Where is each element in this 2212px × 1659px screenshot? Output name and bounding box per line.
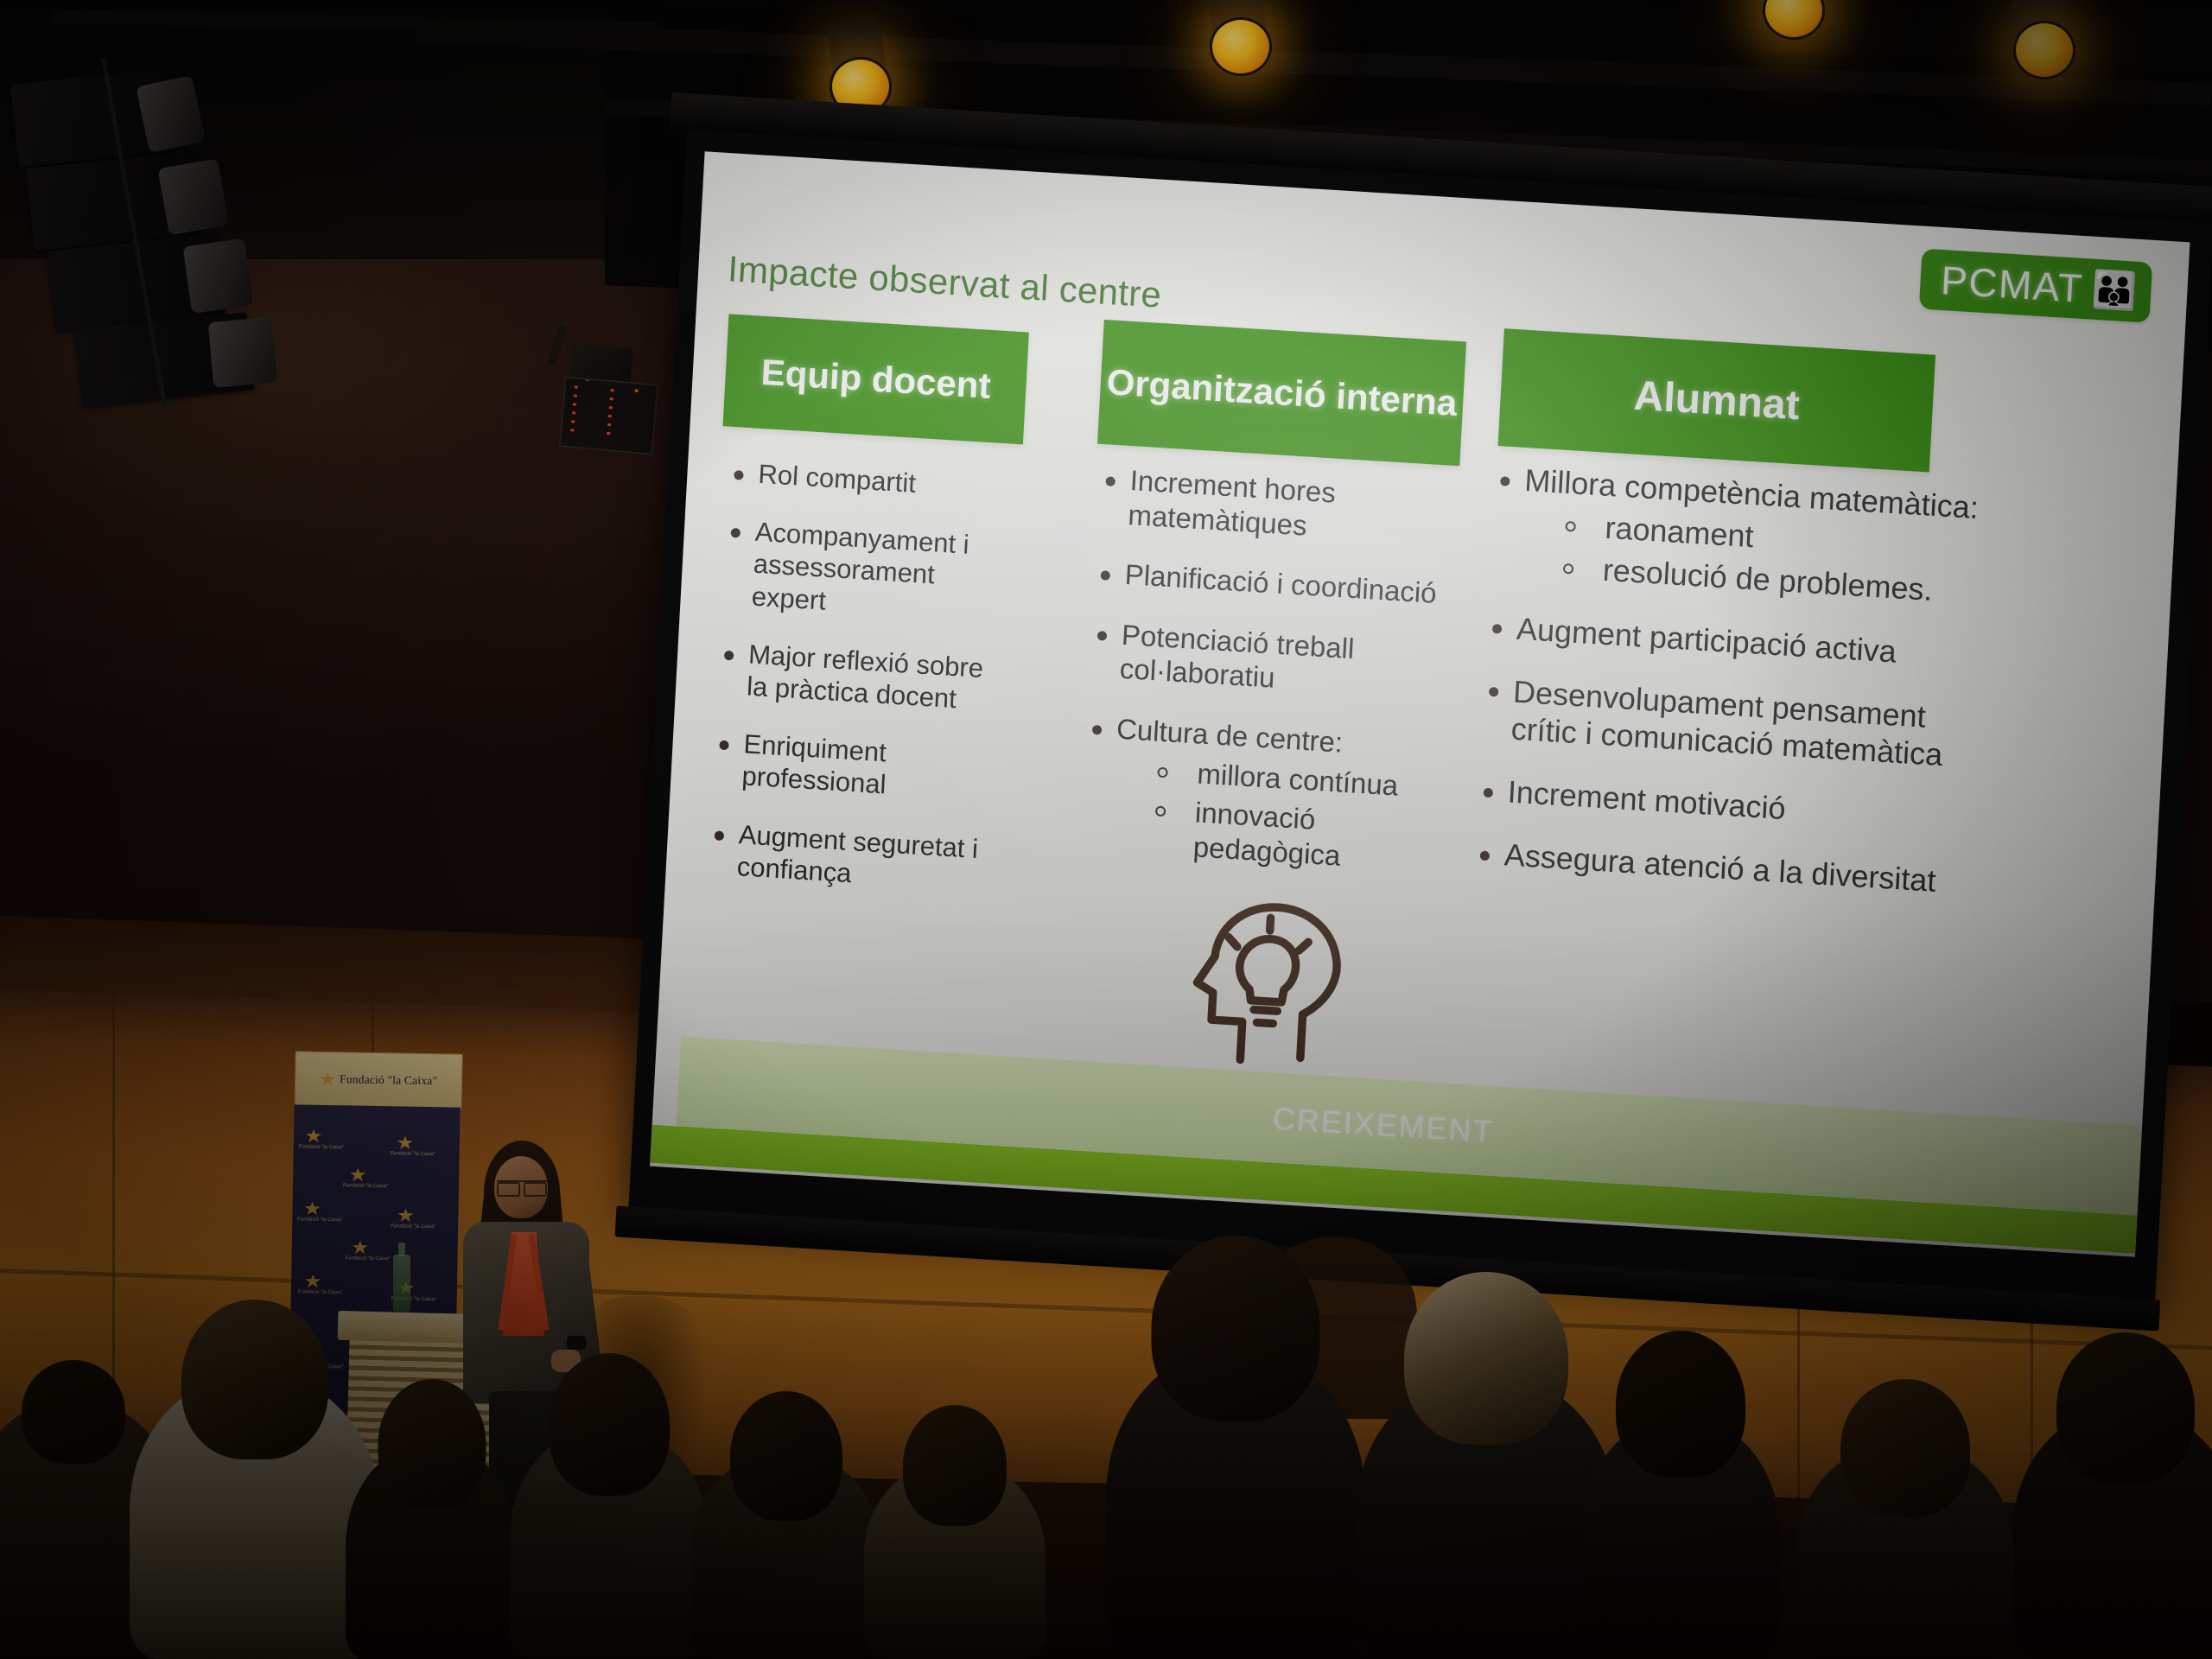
bullet-text: Augment seguretat i confiança <box>736 819 979 888</box>
la-caixa-star-icon <box>397 1135 413 1149</box>
banner-repeat-label: Fundació "la Caixa" <box>298 1289 343 1295</box>
list-item: Planificació i coordinació <box>1093 556 1474 613</box>
audience-member <box>1357 1374 1616 1659</box>
list-item: Cultura de centre: millora contínua inno… <box>1078 709 1465 880</box>
pcmat-logo: PCMAT 👪 <box>1918 249 2152 323</box>
banner-repeat-label: Fundació "la Caixa" <box>299 1144 344 1150</box>
list-item: Increment hores matemàtiques <box>1096 461 1479 553</box>
list-item: Potenciació treball col·laboratiu <box>1088 615 1471 707</box>
students-at-table-icon: 👪 <box>2091 271 2138 310</box>
bullet-text: Potenciació treball col·laboratiu <box>1119 619 1355 694</box>
sub-list-item: innovació pedagògica <box>1109 791 1462 880</box>
bullet-text: Planificació i coordinació <box>1124 558 1438 609</box>
bullet-text: Major reflexió sobre la pràctica docent <box>746 639 984 714</box>
bullet-text: Rol compartit <box>758 459 917 499</box>
auditorium-scene: PCMAT 👪 Impacte observat al centre Equip… <box>0 0 2212 1659</box>
control-panel <box>559 376 659 454</box>
bullet-list-equip-docent: Rol compartit Acompanyament i assessoram… <box>703 456 1021 925</box>
la-caixa-star-icon <box>304 1202 320 1216</box>
banner-repeat-label: Fundació "la Caixa" <box>391 1224 435 1230</box>
audience-member <box>2013 1408 2212 1659</box>
la-caixa-star-icon <box>397 1208 413 1222</box>
column-header-equip-docent: Equip docent <box>723 314 1029 444</box>
la-caixa-star-icon <box>353 1241 368 1255</box>
glasses-icon <box>497 1180 547 1193</box>
pcmat-logo-label: PCMAT <box>1940 257 2085 312</box>
bullet-text: Increment hores matemàtiques <box>1128 464 1337 541</box>
slide-title: Impacte observat al centre <box>727 248 1162 316</box>
list-item: Assegura atenció a la diversitat <box>1472 834 1974 902</box>
audience-member <box>510 1426 709 1659</box>
list-item: Acompanyament i assessorament expert <box>720 514 1018 628</box>
line-array-speaker <box>9 38 328 411</box>
column-header-organitzacio-interna: Organització interna <box>1097 320 1466 466</box>
bullet-list-organitzacio-interna: Increment hores matemàtiques Planificaci… <box>1077 461 1480 906</box>
bullet-text: Enriquiment professional <box>741 728 887 799</box>
banner-repeat-label: Fundació "la Caixa" <box>343 1183 388 1189</box>
audience-member <box>1581 1417 1780 1659</box>
sub-bullet-list: millora contínua innovació pedagògica <box>1109 751 1464 880</box>
audience-member <box>130 1374 380 1659</box>
bullet-list-alumnat: Millora competència matemàtica: raonamen… <box>1471 460 1994 928</box>
la-caixa-star-icon <box>320 1072 335 1086</box>
list-item: Millora competència matemàtica: raonamen… <box>1488 460 1995 613</box>
audience-member <box>1797 1443 2013 1659</box>
list-item: Desenvolupament pensament crític i comun… <box>1479 671 1984 776</box>
audience <box>0 1296 2212 1659</box>
la-caixa-star-icon <box>350 1167 365 1181</box>
audience-member <box>864 1460 1046 1659</box>
bullet-text: Assegura atenció a la diversitat <box>1503 837 1937 899</box>
bullet-text: Cultura de centre: <box>1116 713 1344 759</box>
bullet-text: Increment motivació <box>1507 774 1787 827</box>
projection-screen: PCMAT 👪 Impacte observat al centre Equip… <box>628 130 2212 1301</box>
presentation-slide: PCMAT 👪 Impacte observat al centre Equip… <box>650 151 2190 1256</box>
banner-headline: Fundació "la Caixa" <box>340 1072 437 1088</box>
list-item: Augment participació activa <box>1484 607 1986 676</box>
banner-repeat-label: Fundació "la Caixa" <box>297 1217 342 1223</box>
banner-repeat-label: Fundació "la Caixa" <box>345 1255 390 1262</box>
la-caixa-star-icon <box>305 1274 321 1288</box>
column-header-alumnat: Alumnat <box>1498 328 1935 472</box>
bullet-text: Augment participació activa <box>1516 610 1897 669</box>
list-item: Enriquiment professional <box>710 726 1007 808</box>
list-item: Increment motivació <box>1476 771 1978 839</box>
list-item: Major reflexió sobre la pràctica docent <box>715 636 1011 718</box>
audience-member <box>691 1452 881 1659</box>
list-item: Augment seguretat i confiança <box>705 816 1001 898</box>
screen-surface: PCMAT 👪 Impacte observat al centre Equip… <box>650 151 2190 1256</box>
list-item: Rol compartit <box>727 456 1021 506</box>
audience-member <box>1106 1348 1365 1659</box>
la-caixa-star-icon <box>306 1129 321 1143</box>
audience-member <box>346 1443 518 1659</box>
bullet-text: Desenvolupament pensament crític i comun… <box>1510 673 1943 772</box>
bullet-text: Acompanyament i assessorament expert <box>751 517 970 615</box>
head-with-lightbulb-icon <box>1174 891 1364 1075</box>
banner-repeat-label: Fundació "la Caixa" <box>391 1151 435 1157</box>
banner-header: Fundació "la Caixa" <box>295 1051 463 1109</box>
